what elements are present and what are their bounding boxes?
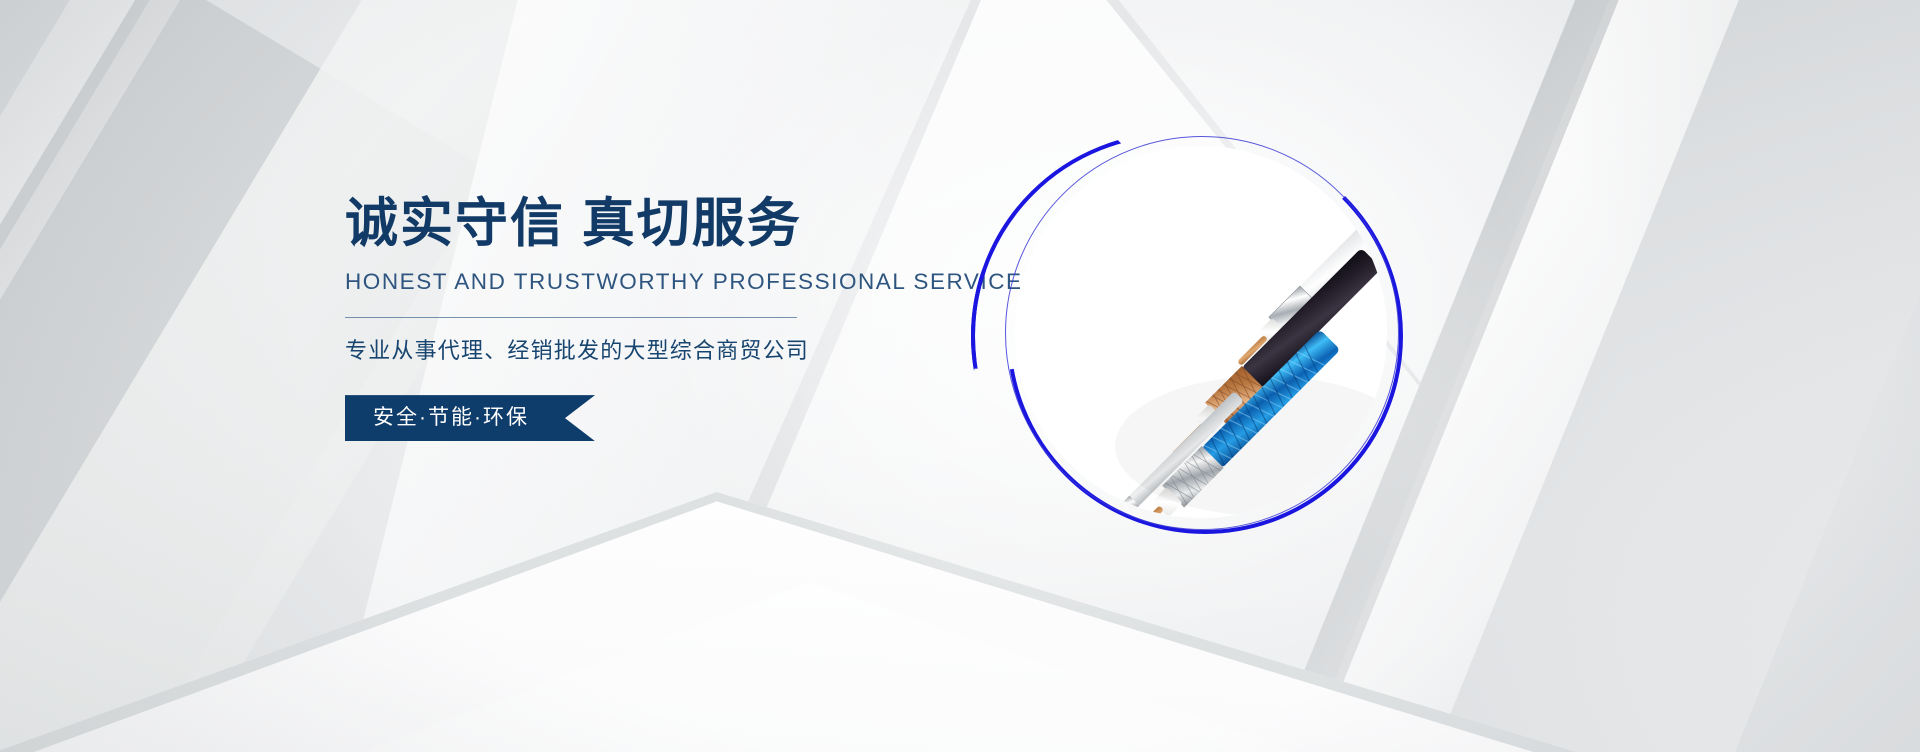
product-photo-circle (1015, 146, 1387, 518)
hero-copy-block: 诚实守信 真切服务 HONEST AND TRUSTWORTHY PROFESS… (345, 196, 905, 441)
hero-headline: 诚实守信 真切服务 (345, 196, 905, 252)
background-art (0, 0, 1920, 752)
hero-divider-rule (345, 317, 797, 318)
hero-badge-wrapper: 安全·节能·环保 (345, 395, 905, 441)
hero-ribbon-badge: 安全·节能·环保 (345, 395, 595, 441)
hero-tagline-chinese: 专业从事代理、经销批发的大型综合商贸公司 (345, 333, 905, 365)
hero-banner: 诚实守信 真切服务 HONEST AND TRUSTWORTHY PROFESS… (0, 0, 1920, 752)
hero-subtitle-english: HONEST AND TRUSTWORTHY PROFESSIONAL SERV… (345, 269, 905, 295)
